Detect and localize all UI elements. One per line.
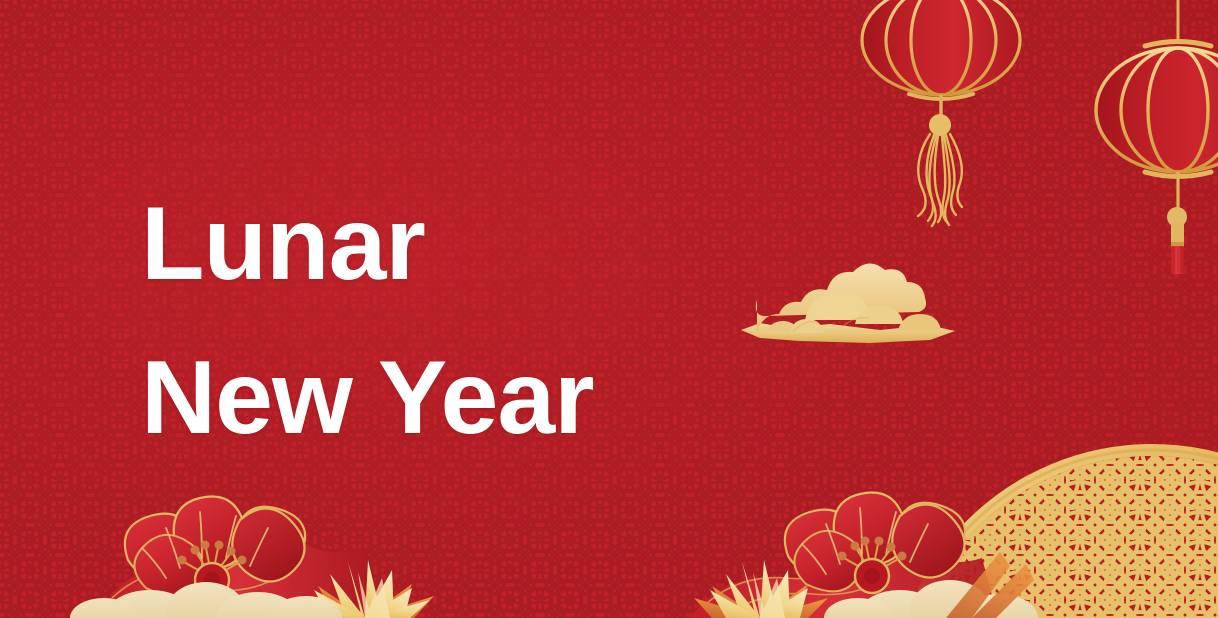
lunar-new-year-banner: Lunar New Year [0,0,1218,618]
bottom-decorations [0,0,1218,618]
